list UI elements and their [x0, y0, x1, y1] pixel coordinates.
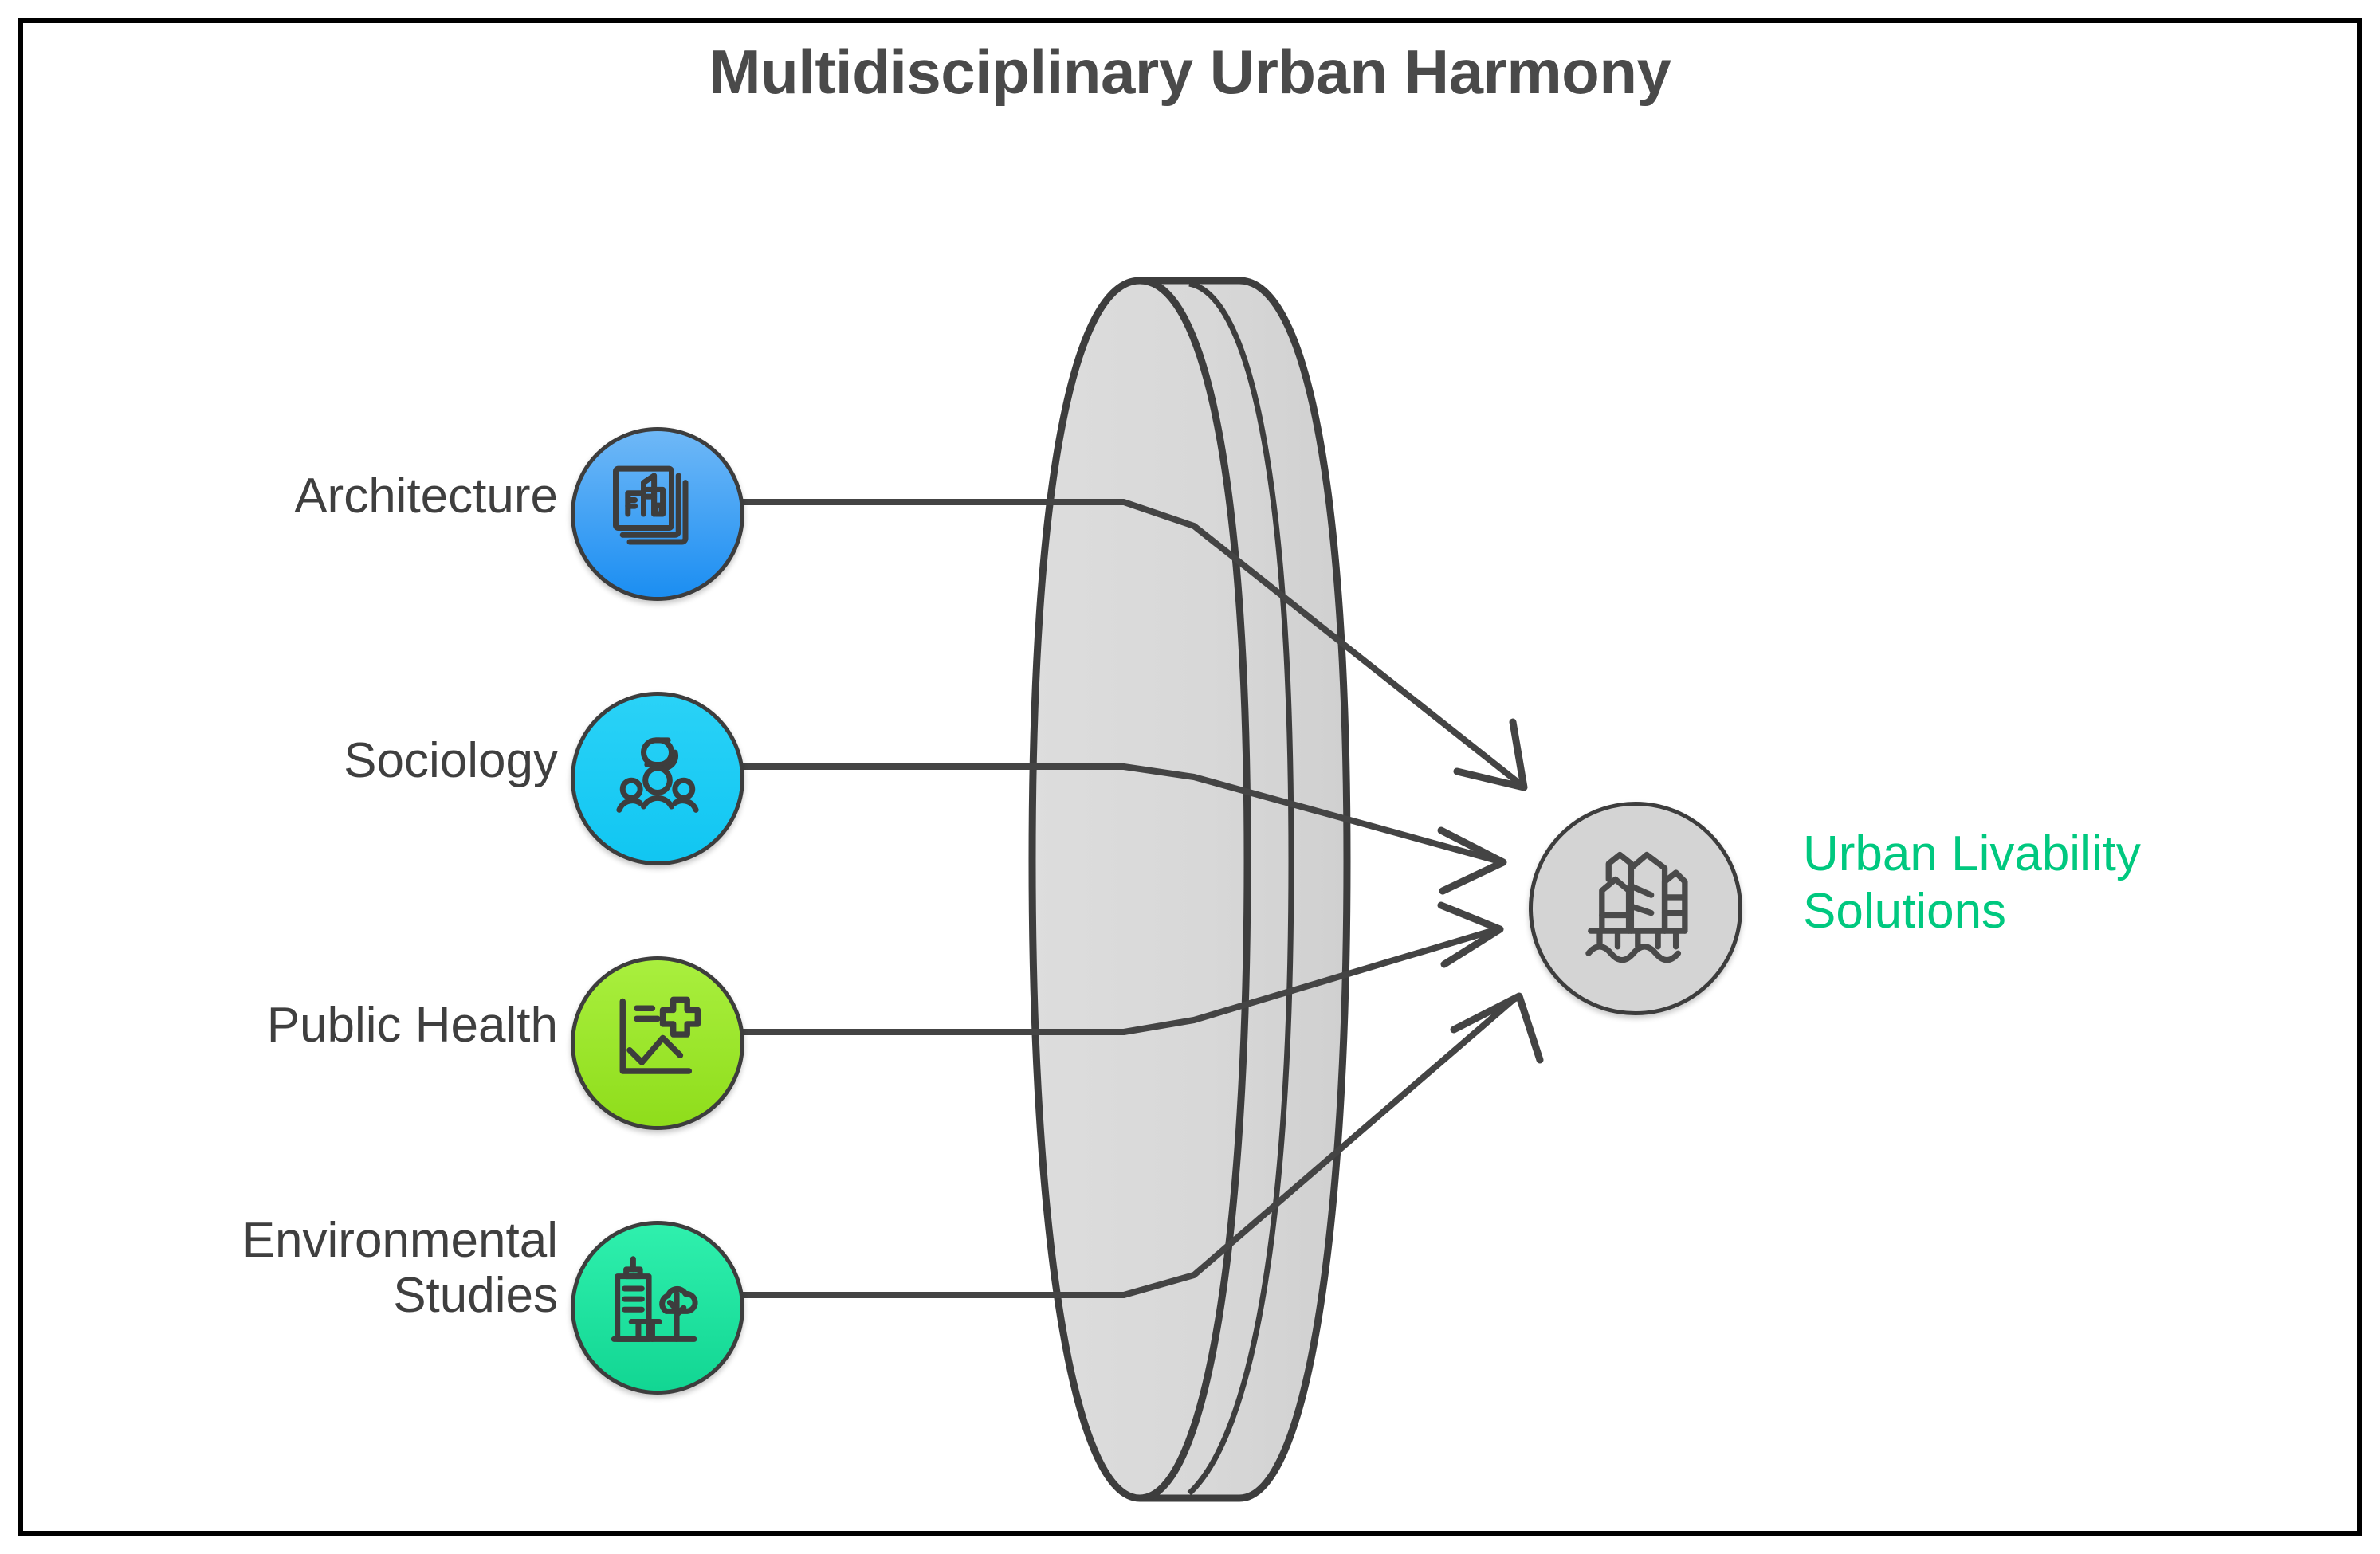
source-icon-architecture[interactable] — [571, 427, 744, 601]
diagram-canvas: Multidisciplinary Urban Harmony — [0, 0, 2380, 1554]
source-icon-public-health[interactable] — [571, 956, 744, 1130]
source-label-environmental: Environmental Studies — [48, 1213, 558, 1324]
blueprint-document-icon — [602, 458, 713, 570]
health-chart-cross-icon — [602, 987, 713, 1099]
people-group-icon — [602, 723, 713, 834]
building-tree-icon — [602, 1252, 713, 1364]
source-label-sociology: Sociology — [80, 733, 558, 788]
target-label: Urban Livability Solutions — [1803, 826, 2313, 940]
source-label-public-health: Public Health — [80, 998, 558, 1053]
target-icon-urban-livability[interactable] — [1529, 802, 1742, 1015]
source-label-architecture: Architecture — [80, 469, 558, 524]
source-icon-sociology[interactable] — [571, 692, 744, 865]
page-title: Multidisciplinary Urban Harmony — [0, 38, 2380, 107]
city-skyline-water-icon — [1564, 837, 1707, 980]
source-icon-environmental[interactable] — [571, 1221, 744, 1395]
